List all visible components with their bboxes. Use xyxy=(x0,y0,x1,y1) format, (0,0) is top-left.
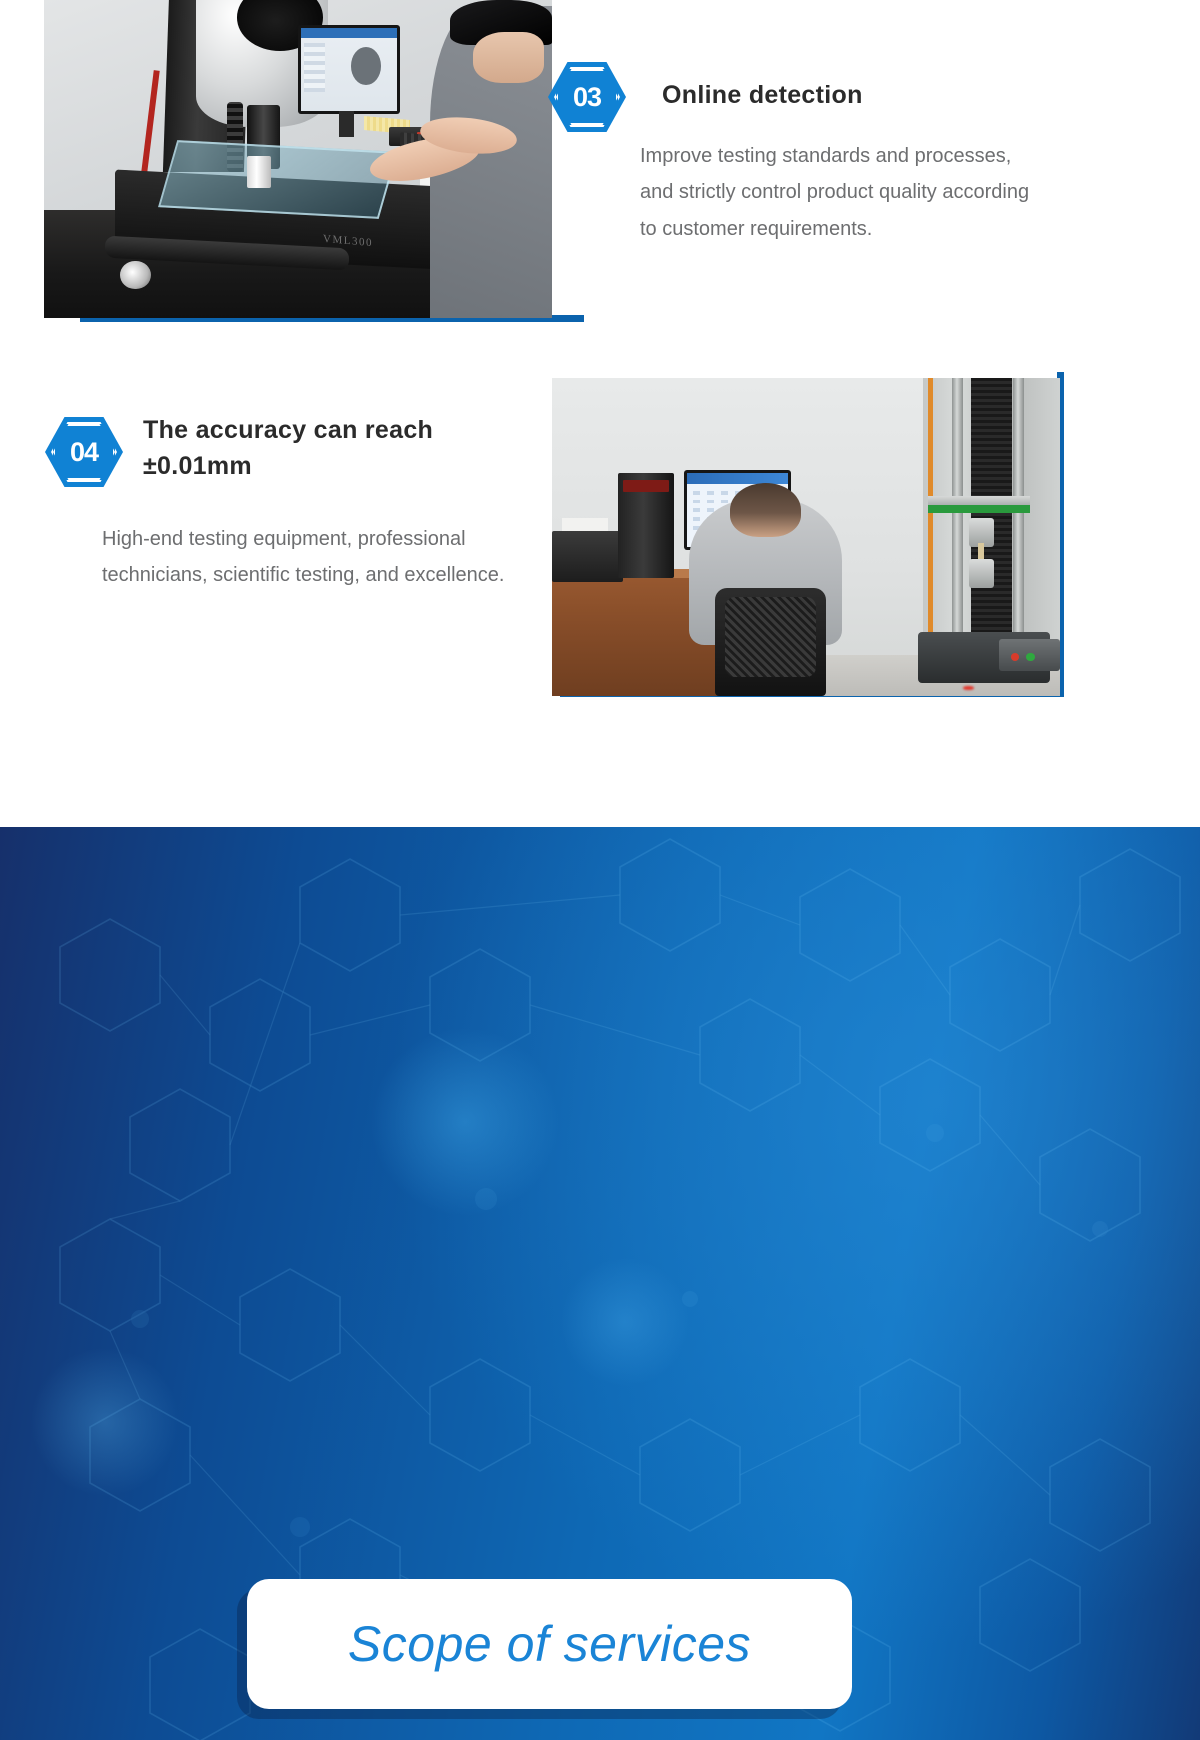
light-blob xyxy=(560,1257,690,1387)
feature-number-03: 03 xyxy=(548,62,626,132)
scope-of-services-section: Scope of services 01 CNC processing of e… xyxy=(0,827,1200,1740)
features-section: VML300 03 Online detection Improve testi… xyxy=(0,0,1200,827)
accuracy-photo-frame xyxy=(552,372,1072,702)
feature-badge-03: 03 xyxy=(548,62,626,132)
online-detection-photo-frame: VML300 xyxy=(32,0,552,330)
scope-title-card: Scope of services xyxy=(247,1579,852,1709)
feature-body-03: Improve testing standards and processes,… xyxy=(640,138,1040,247)
feature-title-03: Online detection xyxy=(662,78,1062,114)
light-blob xyxy=(370,1027,560,1217)
accuracy-photo xyxy=(552,378,1060,696)
feature-title-04: The accuracy can reach ±0.01mm xyxy=(143,413,533,484)
feature-body-04: High-end testing equipment, professional… xyxy=(102,521,542,594)
scope-title: Scope of services xyxy=(348,1615,751,1673)
online-detection-photo: VML300 xyxy=(44,0,552,318)
feature-badge-04: 04 xyxy=(45,417,123,487)
feature-number-04: 04 xyxy=(45,417,123,487)
light-blob xyxy=(30,1347,180,1497)
